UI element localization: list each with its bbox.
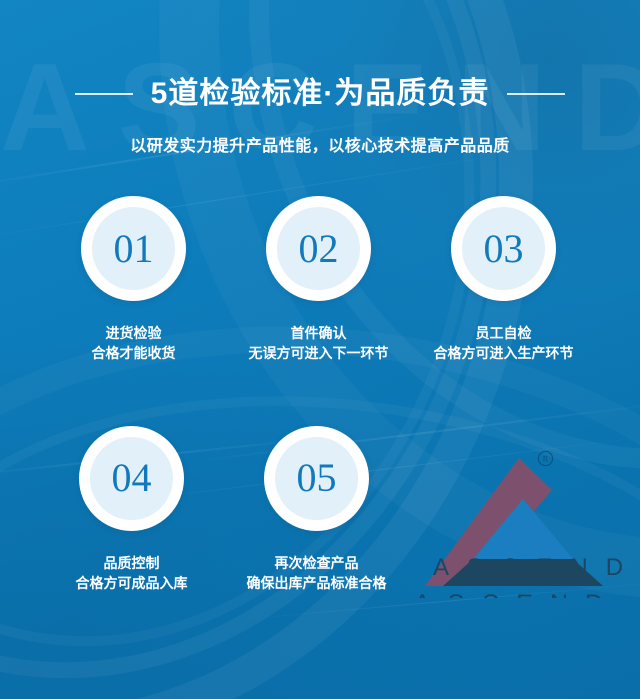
step-circle-inner-01: 01 — [92, 207, 175, 290]
step-circle-inner-04: 04 — [90, 437, 173, 520]
step-desc-01: 合格才能收货 — [92, 343, 176, 363]
step-desc-02: 无误方可进入下一环节 — [249, 343, 389, 363]
step-title-01: 进货检验 — [92, 323, 176, 343]
step-circle-inner-05: 05 — [275, 437, 358, 520]
step-text-05: 再次检查产品 确保出库产品标准合格 — [247, 553, 387, 594]
step-number-02: 02 — [299, 229, 339, 269]
step-circle-inner-03: 03 — [462, 207, 545, 290]
step-title-02: 首件确认 — [249, 323, 389, 343]
step-text-01: 进货检验 合格才能收货 — [92, 323, 176, 364]
step-text-04: 品质控制 合格方可成品入库 — [76, 553, 188, 594]
steps-row-top: 01 进货检验 合格才能收货 02 首件确认 无误方可进入下一环节 — [0, 196, 640, 364]
title-rule-right-icon — [507, 93, 565, 95]
step-circle-03: 03 — [451, 196, 556, 301]
step-item-02: 02 首件确认 无误方可进入下一环节 — [226, 196, 411, 364]
logo-wordmark-text: ASCEND — [415, 554, 615, 582]
step-title-05: 再次检查产品 — [247, 553, 387, 573]
page-subtitle: 以研发实力提升产品性能，以核心技术提高产品品质 — [0, 132, 640, 156]
step-number-03: 03 — [484, 229, 524, 269]
step-number-04: 04 — [112, 458, 152, 498]
step-text-02: 首件确认 无误方可进入下一环节 — [249, 323, 389, 364]
header: 5道检验标准·为品质负责 以研发实力提升产品性能，以核心技术提高产品品质 — [0, 0, 640, 156]
poster-root: ASCEND 5道检验标准·为品质负责 以研发实力提升产品性能，以核心技术提高产… — [0, 0, 640, 699]
step-circle-01: 01 — [81, 196, 186, 301]
title-row: 5道检验标准·为品质负责 — [0, 70, 640, 118]
step-desc-04: 合格方可成品入库 — [76, 573, 188, 593]
step-item-01: 01 进货检验 合格才能收货 — [41, 196, 226, 364]
step-circle-05: 05 — [264, 426, 369, 531]
step-number-01: 01 — [114, 229, 154, 269]
step-title-04: 品质控制 — [76, 553, 188, 573]
step-item-03: 03 员工自检 合格方可进入生产环节 — [411, 196, 596, 364]
step-item-05: 05 再次检查产品 确保出库产品标准合格 — [224, 426, 409, 594]
registered-trademark-icon: R — [537, 450, 554, 467]
brand-logo: ASCEND ASCEND R — [415, 446, 620, 598]
page-title: 5道检验标准·为品质负责 — [151, 79, 490, 109]
step-number-05: 05 — [297, 458, 337, 498]
step-circle-02: 02 — [266, 196, 371, 301]
step-item-04: 04 品质控制 合格方可成品入库 — [39, 426, 224, 594]
step-text-03: 员工自检 合格方可进入生产环节 — [434, 323, 574, 364]
step-circle-04: 04 — [79, 426, 184, 531]
title-rule-left-icon — [75, 93, 133, 95]
logo-wordmark: ASCEND — [415, 590, 620, 598]
step-desc-05: 确保出库产品标准合格 — [247, 573, 387, 593]
step-circle-inner-02: 02 — [277, 207, 360, 290]
svg-text:R: R — [543, 454, 549, 464]
step-desc-03: 合格方可进入生产环节 — [434, 343, 574, 363]
step-title-03: 员工自检 — [434, 323, 574, 343]
